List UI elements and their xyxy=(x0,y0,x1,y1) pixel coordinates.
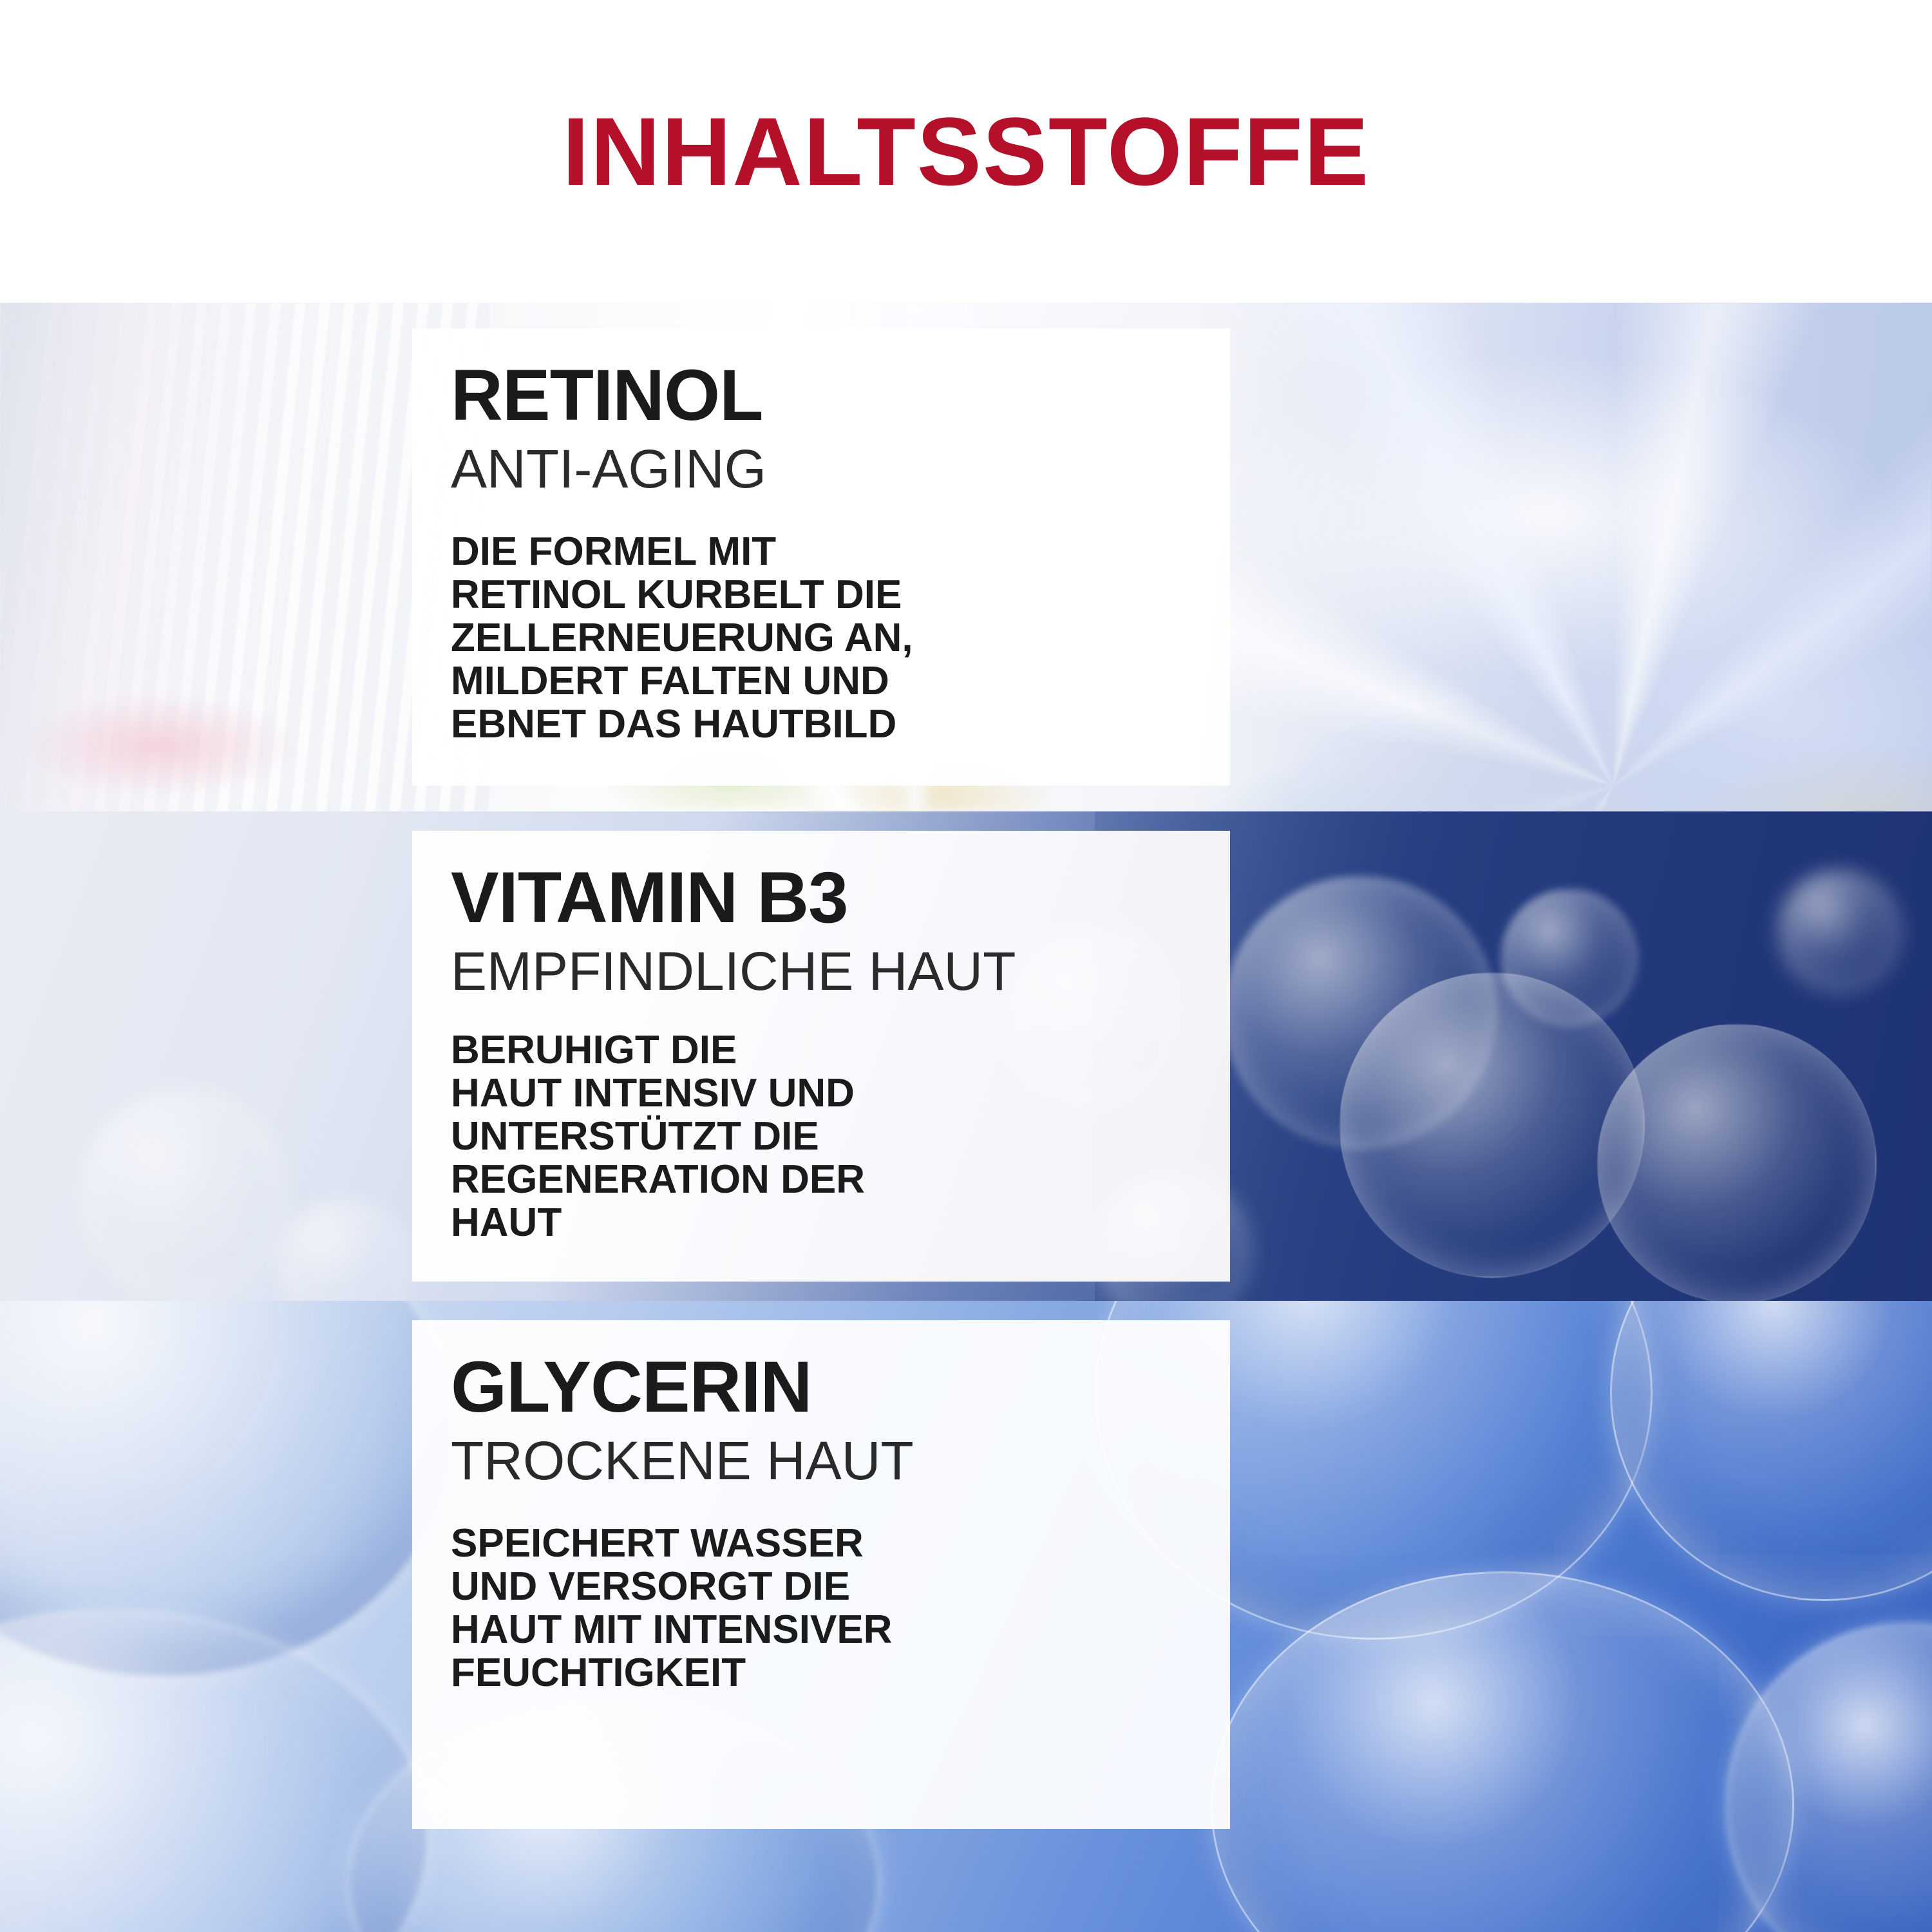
decorative-bubble xyxy=(1777,869,1902,994)
ingredient-panel-vitamin-b3: VITAMIN B3 EMPFINDLICHE HAUT BERUHIGT DI… xyxy=(0,811,1932,1301)
ingredient-title-retinol: RETINOL xyxy=(451,359,1191,431)
page-header: INHALTSSTOFFE xyxy=(0,0,1932,303)
decorative-bubble xyxy=(277,1198,415,1301)
ingredient-card-vitamin-b3: VITAMIN B3 EMPFINDLICHE HAUT BERUHIGT DI… xyxy=(412,831,1230,1282)
ingredient-body-retinol: DIE FORMEL MIT RETINOL KURBELT DIE ZELLE… xyxy=(451,531,1191,746)
ingredient-card-retinol: RETINOL ANTI-AGING DIE FORMEL MIT RETINO… xyxy=(412,328,1230,786)
decorative-frost-ridge xyxy=(1191,580,1932,811)
decorative-droplet xyxy=(1610,1301,1932,1601)
ingredient-subtitle-vitamin-b3: EMPFINDLICHE HAUT xyxy=(451,943,1191,999)
ingredient-title-vitamin-b3: VITAMIN B3 xyxy=(451,862,1191,934)
ingredient-subtitle-glycerin: TROCKENE HAUT xyxy=(451,1432,1191,1489)
ingredient-body-vitamin-b3: BERUHIGT DIE HAUT INTENSIV UND UNTERSTÜT… xyxy=(451,1029,1191,1245)
decorative-bubble xyxy=(77,1088,292,1301)
ingredient-subtitle-retinol: ANTI-AGING xyxy=(451,440,1191,497)
decorative-pastel-pink xyxy=(26,676,361,792)
page-title: INHALTSSTOFFE xyxy=(562,103,1370,200)
ingredient-panel-retinol: RETINOL ANTI-AGING DIE FORMEL MIT RETINO… xyxy=(0,303,1932,811)
decorative-bubble xyxy=(1501,889,1638,1027)
decorative-droplet xyxy=(1726,1623,1932,1932)
ingredient-card-glycerin: GLYCERIN TROCKENE HAUT SPEICHERT WASSER … xyxy=(412,1320,1230,1829)
ingredient-title-glycerin: GLYCERIN xyxy=(451,1351,1191,1423)
ingredient-body-glycerin: SPEICHERT WASSER UND VERSORGT DIE HAUT M… xyxy=(451,1522,1191,1695)
decorative-bubble xyxy=(1597,1024,1877,1301)
ingredient-panel-glycerin: GLYCERIN TROCKENE HAUT SPEICHERT WASSER … xyxy=(0,1301,1932,1932)
